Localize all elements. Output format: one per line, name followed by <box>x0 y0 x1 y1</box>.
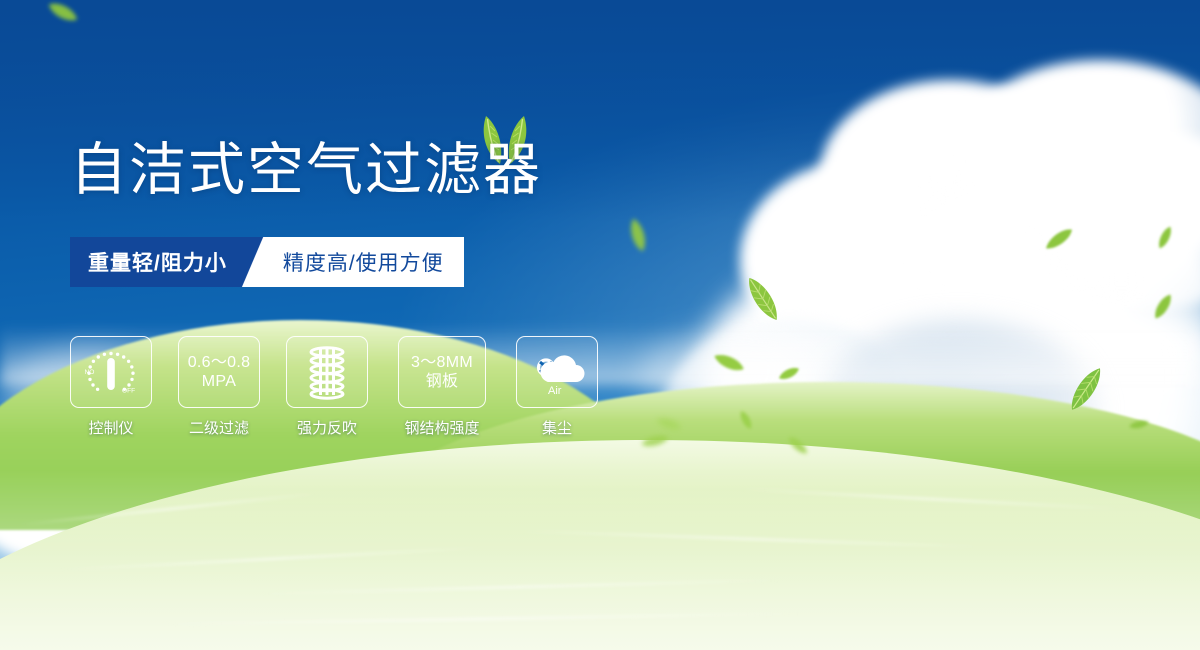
feature-caption: 钢结构强度 <box>404 417 479 438</box>
feature-item-two-stage-filter[interactable]: 0.6～0.8 MPA 二级过滤 <box>178 336 260 438</box>
steel-text-badge: 3～8MM 钢板 <box>398 336 486 408</box>
stacked-filter-disks-icon <box>286 336 368 408</box>
feature-caption: 强力反吹 <box>297 417 357 438</box>
banner-content: 自洁式空气过滤器 重量轻/阻力小 精度高/使用方便 <box>0 0 1200 650</box>
page-title: 自洁式空气过滤器 <box>70 142 542 199</box>
feature-caption: 控制仪 <box>88 417 133 438</box>
svg-text:NO: NO <box>85 369 95 376</box>
dial-gauge-icon: NO OFF <box>70 336 152 408</box>
feature-item-control-dial[interactable]: NO OFF 控制仪 <box>70 336 152 438</box>
svg-text:OFF: OFF <box>122 388 135 395</box>
feature-list: NO OFF 控制仪 0.6～0.8 MPA 二级过滤 <box>70 336 598 438</box>
feature-box-line2: MPA <box>202 372 236 391</box>
feature-item-reverse-blow[interactable]: 强力反吹 <box>286 336 368 438</box>
feature-caption: 二级过滤 <box>189 417 249 438</box>
cloud-air-label: Air <box>548 385 562 397</box>
feature-item-dust-collection[interactable]: Air 集尘 <box>516 336 598 438</box>
feature-caption: 集尘 <box>542 417 572 438</box>
feature-item-steel-strength[interactable]: 3～8MM 钢板 钢结构强度 <box>394 336 490 438</box>
cloud-air-icon: Air <box>516 336 598 408</box>
pressure-text-badge: 0.6～0.8 MPA <box>178 336 260 408</box>
feature-box-line2: 钢板 <box>426 372 459 391</box>
banner-stage: 自洁式空气过滤器 重量轻/阻力小 精度高/使用方便 <box>0 0 1200 650</box>
subtitle-right: 精度高/使用方便 <box>261 237 464 287</box>
feature-box-line1: 3～8MM <box>411 353 473 372</box>
subtitle-left: 重量轻/阻力小 <box>70 237 249 287</box>
feature-box-line1: 0.6～0.8 <box>188 353 251 372</box>
subtitle-bar: 重量轻/阻力小 精度高/使用方便 <box>70 237 464 287</box>
